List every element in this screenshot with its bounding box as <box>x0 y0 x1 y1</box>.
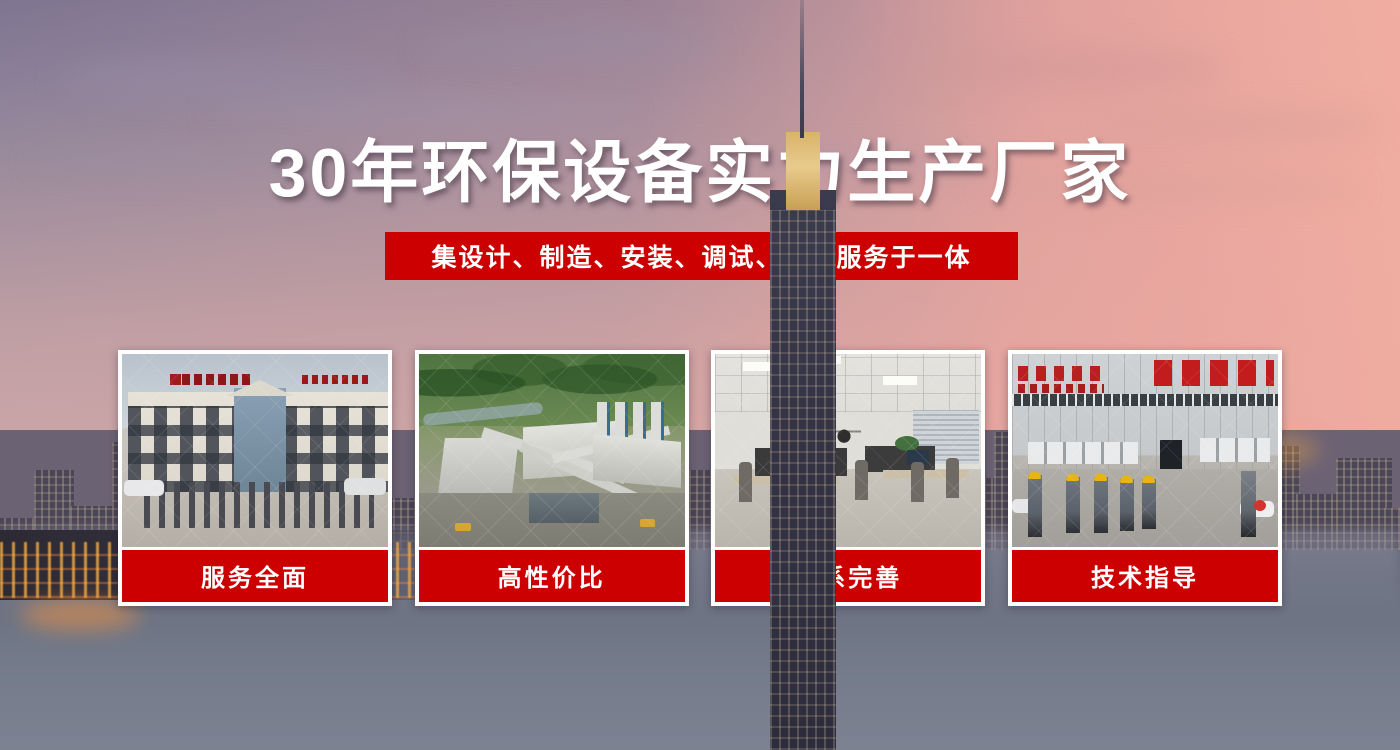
banner-stage: 30年环保设备实力生产厂家 集设计、制造、安装、调试、售后服务于一体 服务全面 <box>0 0 1400 750</box>
card-caption-text: 服务全面 <box>201 558 309 593</box>
feature-card[interactable]: 技术指导 <box>1008 350 1282 606</box>
card-caption: 体系完善 <box>715 550 981 602</box>
cloud <box>210 95 630 129</box>
factory-slogan <box>1154 360 1274 386</box>
company-office-building-photo <box>122 354 388 547</box>
skyscraper-spire <box>800 0 804 138</box>
building-phone-number <box>302 375 372 384</box>
building-signage <box>170 374 250 385</box>
feature-card[interactable]: 体系完善 <box>711 350 985 606</box>
office-interior-photo <box>715 354 981 547</box>
skyscraper-crown <box>786 132 820 210</box>
feature-card-list: 服务全面 高性价比 <box>118 350 1282 606</box>
subtitle-text: 集设计、制造、安装、调试、售后服务于一体 <box>431 238 971 274</box>
feature-card[interactable]: 高性价比 <box>415 350 689 606</box>
card-caption: 服务全面 <box>122 550 388 602</box>
page-title: 30年环保设备实力生产厂家 <box>0 135 1400 211</box>
card-caption: 高性价比 <box>419 550 685 602</box>
cloud <box>900 48 1230 88</box>
card-caption-text: 技术指导 <box>1091 558 1199 593</box>
aerial-factory-plant-photo <box>419 354 685 547</box>
feature-card[interactable]: 服务全面 <box>118 350 392 606</box>
skyscraper-windows <box>770 210 836 750</box>
card-caption-text: 高性价比 <box>498 558 606 593</box>
card-caption: 技术指导 <box>1012 550 1278 602</box>
cloud <box>420 30 720 60</box>
workers-training-photo <box>1012 354 1278 547</box>
subtitle-banner: 集设计、制造、安装、调试、售后服务于一体 <box>385 232 1018 280</box>
